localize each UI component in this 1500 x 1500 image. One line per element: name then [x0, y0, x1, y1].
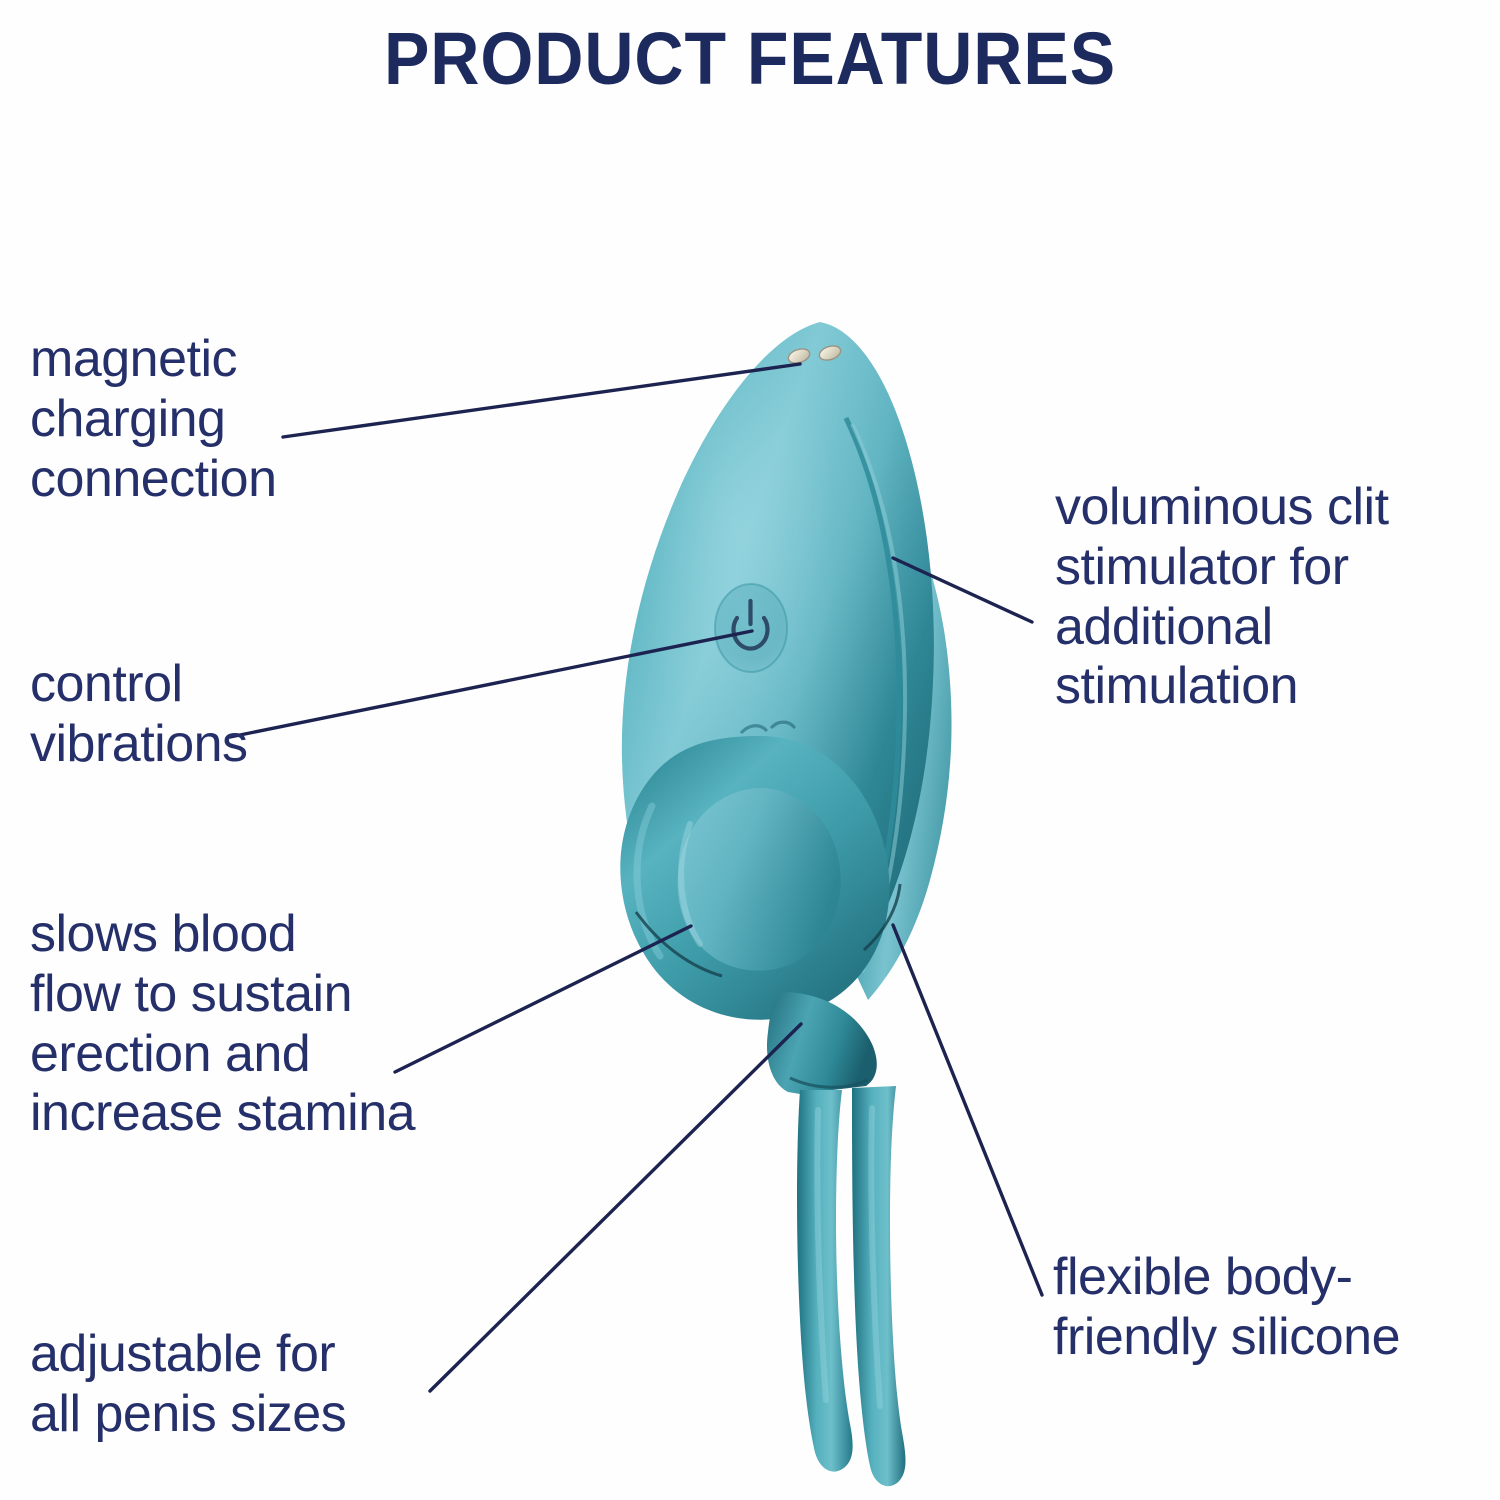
- feature-label-voluminous-clit-stimulator: voluminous clit stimulator for additiona…: [1055, 478, 1485, 717]
- leader-flexible-silicone: [893, 925, 1042, 1295]
- feature-label-flexible-silicone: flexible body- friendly silicone: [1053, 1248, 1500, 1368]
- flexible-strap-right: [852, 1086, 906, 1486]
- flexible-strap-left: [797, 1090, 853, 1472]
- feature-label-magnetic-charging: magnetic charging connection: [30, 330, 460, 509]
- feature-label-control-vibrations: control vibrations: [30, 655, 430, 775]
- power-button[interactable]: [715, 584, 787, 672]
- feature-label-adjustable-sizes: adjustable for all penis sizes: [30, 1325, 500, 1445]
- feature-label-slows-blood-flow: slows blood flow to sustain erection and…: [30, 905, 530, 1144]
- product-features-infographic: PRODUCT FEATURES: [0, 0, 1500, 1500]
